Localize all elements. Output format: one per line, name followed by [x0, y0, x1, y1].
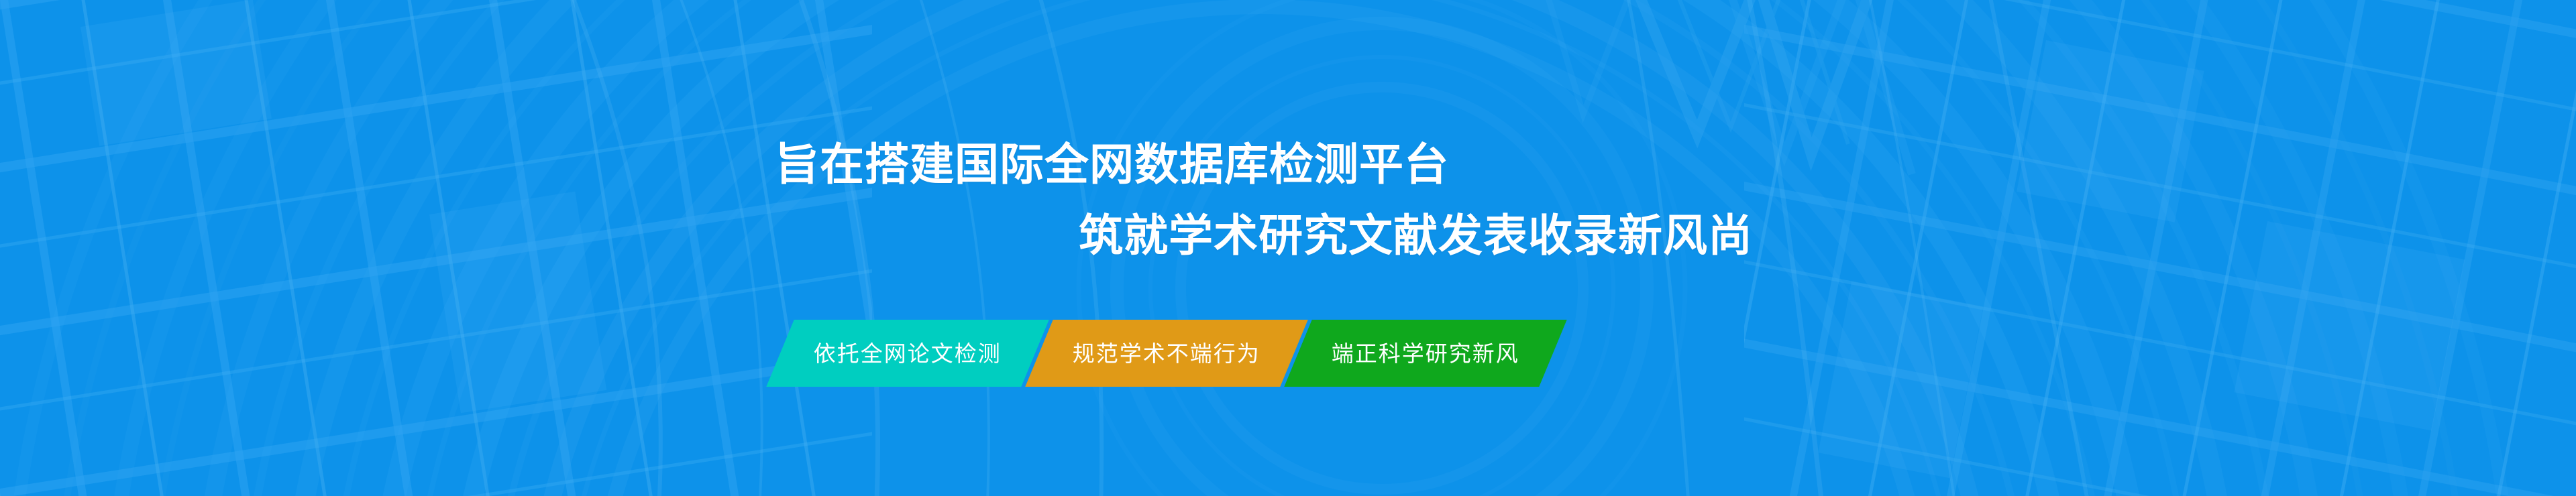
- feature-tag-integrity-label: 端正科学研究新风: [1332, 343, 1519, 365]
- feature-tag-misconduct[interactable]: 规范学术不端行为: [1025, 320, 1307, 387]
- feature-tag-misconduct-label: 规范学术不端行为: [1073, 343, 1260, 365]
- feature-tag-integrity[interactable]: 端正科学研究新风: [1284, 320, 1566, 387]
- background-decoration: [0, 0, 2576, 496]
- promo-banner: 旨在搭建国际全网数据库检测平台 筑就学术研究文献发表收录新风尚 依托全网论文检测…: [0, 0, 2576, 496]
- feature-tag-detection-label: 依托全网论文检测: [814, 343, 1002, 365]
- feature-tag-strip: 依托全网论文检测 规范学术不端行为 端正科学研究新风: [780, 320, 1553, 387]
- feature-tag-detection[interactable]: 依托全网论文检测: [766, 320, 1049, 387]
